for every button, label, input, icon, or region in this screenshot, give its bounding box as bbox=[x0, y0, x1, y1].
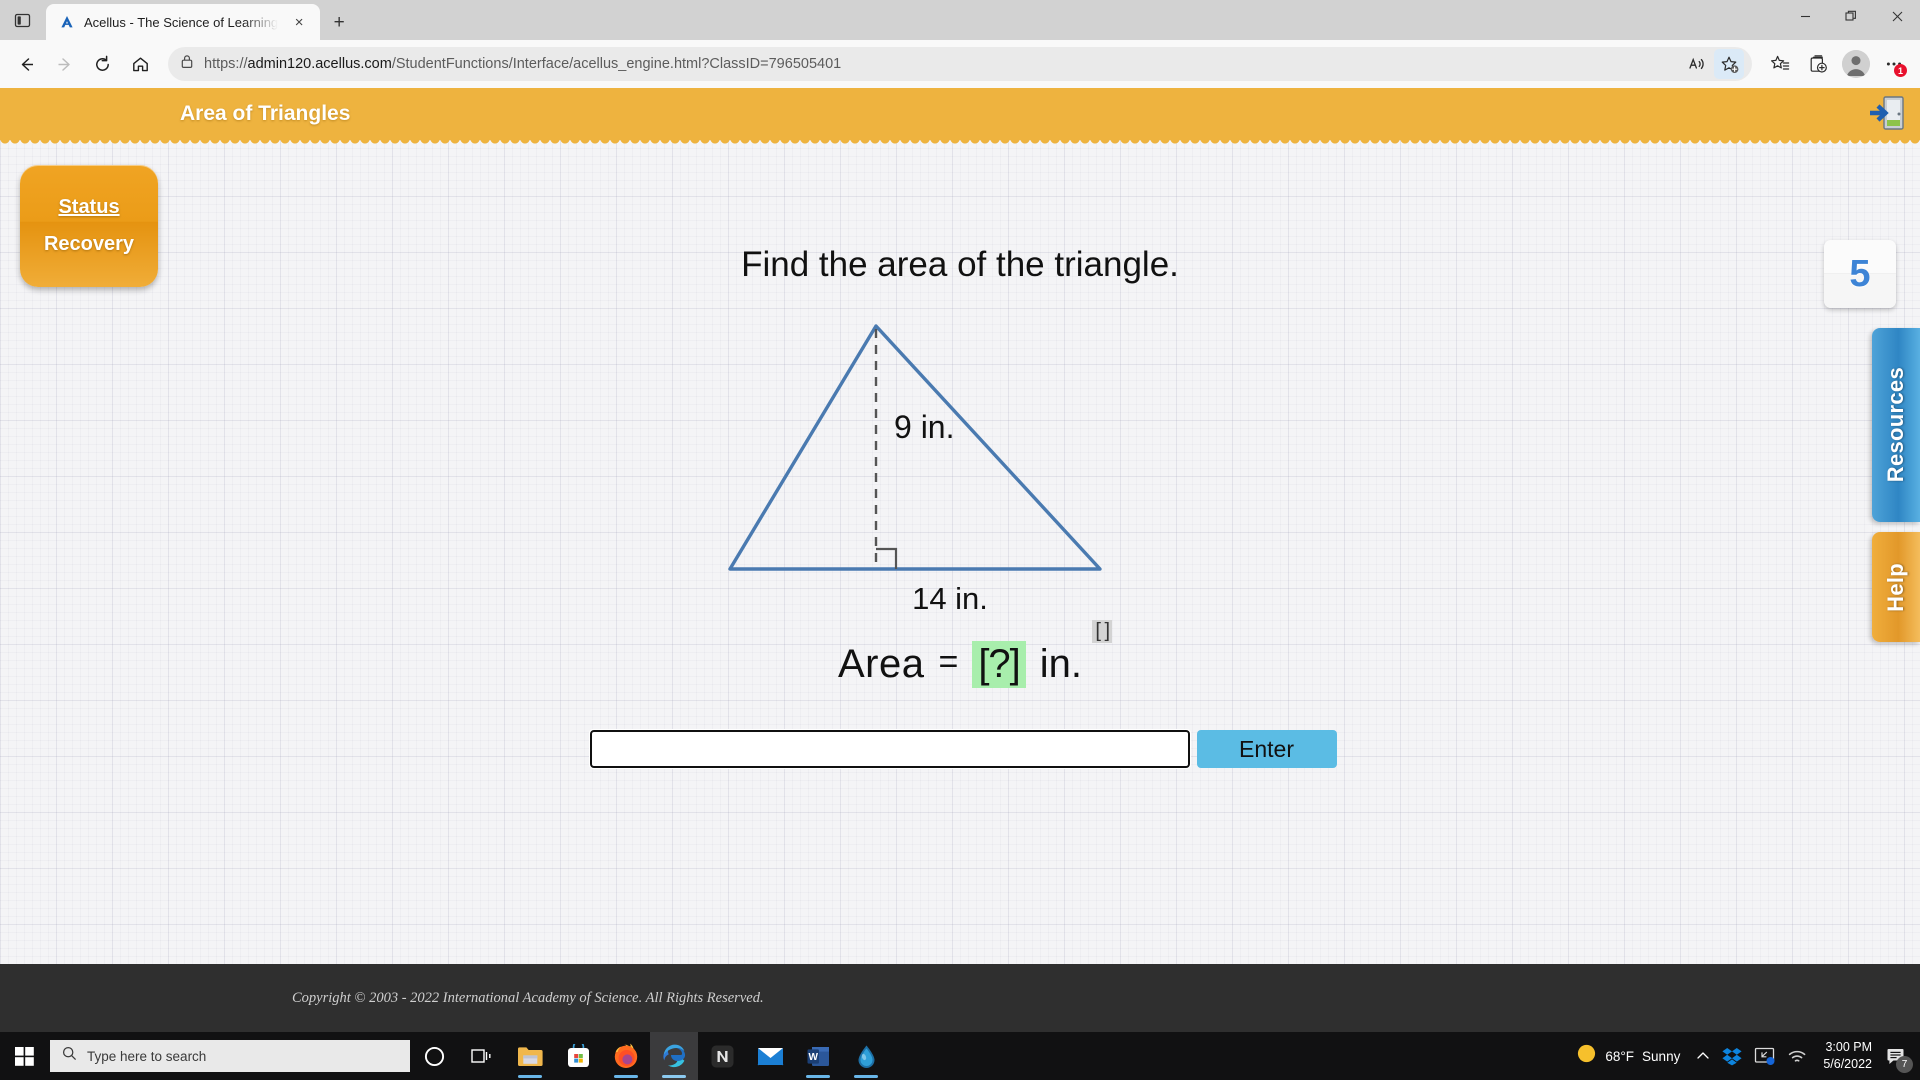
file-explorer-icon[interactable] bbox=[506, 1032, 554, 1080]
equation-unit-text: in. bbox=[1040, 642, 1082, 686]
settings-badge: 1 bbox=[1894, 64, 1907, 77]
copyright-text: Copyright © 2003 - 2022 International Ac… bbox=[292, 990, 764, 1007]
svg-text:W: W bbox=[808, 1051, 818, 1062]
lock-icon bbox=[180, 54, 194, 74]
address-bar-url: https://admin120.acellus.com/StudentFunc… bbox=[204, 56, 841, 72]
problem-counter: 5 bbox=[1824, 240, 1896, 308]
taskbar-search-box[interactable]: Type here to search bbox=[50, 1040, 410, 1072]
notifications-icon[interactable]: 7 bbox=[1882, 1032, 1916, 1080]
clock-date: 5/6/2022 bbox=[1823, 1056, 1872, 1073]
back-button[interactable] bbox=[8, 46, 44, 82]
taskbar-search-placeholder: Type here to search bbox=[87, 1049, 206, 1064]
weather-description: Sunny bbox=[1642, 1049, 1680, 1064]
sun-icon bbox=[1576, 1043, 1597, 1069]
equation-equals: = bbox=[938, 643, 958, 682]
forward-button[interactable] bbox=[46, 46, 82, 82]
add-to-favorites-icon[interactable] bbox=[1714, 49, 1744, 79]
firefox-icon[interactable] bbox=[602, 1032, 650, 1080]
system-tray: 68°F Sunny 3:00 PM 5/6/2022 7 bbox=[1560, 1032, 1920, 1080]
weather-widget[interactable]: 68°F Sunny bbox=[1560, 1043, 1690, 1069]
water-drop-app-icon[interactable] bbox=[842, 1032, 890, 1080]
browser-tab[interactable]: Acellus - The Science of Learning × bbox=[46, 4, 320, 40]
torn-edge-decoration bbox=[0, 139, 1920, 147]
read-aloud-icon[interactable] bbox=[1682, 49, 1712, 79]
collections-icon[interactable] bbox=[1800, 46, 1836, 82]
task-view-icon[interactable] bbox=[458, 1032, 506, 1080]
search-icon bbox=[62, 1046, 77, 1066]
taskbar-clock[interactable]: 3:00 PM 5/6/2022 bbox=[1813, 1032, 1882, 1080]
worksheet-canvas: Find the area of the triangle. 9 in. 14 … bbox=[0, 140, 1920, 964]
exit-door-icon[interactable] bbox=[1868, 94, 1906, 137]
app-header: Area of Triangles bbox=[0, 88, 1920, 140]
page-footer: Copyright © 2003 - 2022 International Ac… bbox=[0, 964, 1920, 1032]
help-tab[interactable]: Help bbox=[1872, 532, 1920, 642]
browser-window: Acellus - The Science of Learning × + bbox=[0, 0, 1920, 1080]
minimize-button[interactable] bbox=[1782, 0, 1828, 32]
avatar bbox=[1842, 50, 1870, 78]
microsoft-store-icon[interactable] bbox=[554, 1032, 602, 1080]
more-settings-icon[interactable]: 1 bbox=[1876, 46, 1912, 82]
window-controls bbox=[1782, 0, 1920, 40]
close-window-button[interactable] bbox=[1874, 0, 1920, 32]
weather-temperature: 68°F bbox=[1605, 1049, 1634, 1064]
microsoft-word-icon[interactable]: W bbox=[794, 1032, 842, 1080]
triangle-height-label: 9 in. bbox=[894, 409, 954, 445]
notability-icon[interactable] bbox=[698, 1032, 746, 1080]
windows-taskbar: Type here to search W bbox=[0, 1032, 1920, 1080]
status-label: Status bbox=[58, 196, 119, 219]
enter-button[interactable]: Enter bbox=[1197, 730, 1337, 768]
resources-tab[interactable]: Resources bbox=[1872, 328, 1920, 522]
display-icon[interactable] bbox=[1748, 1032, 1781, 1080]
browser-titlebar: Acellus - The Science of Learning × + bbox=[0, 0, 1920, 40]
problem-content: Find the area of the triangle. 9 in. 14 … bbox=[0, 140, 1920, 768]
answer-row: Enter bbox=[0, 730, 1920, 768]
new-tab-button[interactable]: + bbox=[326, 10, 352, 36]
acellus-logo-icon bbox=[58, 13, 76, 31]
browser-tab-title: Acellus - The Science of Learning bbox=[84, 15, 278, 30]
triangle-figure: 9 in. 14 in. bbox=[680, 299, 1240, 617]
tab-actions-icon[interactable] bbox=[0, 0, 44, 40]
address-bar[interactable]: https://admin120.acellus.com/StudentFunc… bbox=[168, 47, 1752, 81]
restore-button[interactable] bbox=[1828, 0, 1874, 32]
mail-icon[interactable] bbox=[746, 1032, 794, 1080]
show-hidden-icons-icon[interactable] bbox=[1690, 1032, 1716, 1080]
browser-toolbar: https://admin120.acellus.com/StudentFunc… bbox=[0, 40, 1920, 88]
refresh-button[interactable] bbox=[84, 46, 120, 82]
favorites-icon[interactable] bbox=[1762, 46, 1798, 82]
answer-input[interactable] bbox=[590, 730, 1190, 768]
notifications-badge: 7 bbox=[1896, 1056, 1913, 1073]
page-title: Area of Triangles bbox=[180, 102, 350, 126]
resources-tab-label: Resources bbox=[1883, 367, 1909, 482]
home-button[interactable] bbox=[122, 46, 158, 82]
wifi-icon[interactable] bbox=[1781, 1032, 1813, 1080]
triangle-diagram-svg: 9 in. bbox=[680, 299, 1240, 574]
cortana-icon[interactable] bbox=[410, 1032, 458, 1080]
status-recovery-button[interactable]: Status Recovery bbox=[20, 165, 158, 287]
equation-answer-blank: [?] bbox=[972, 641, 1025, 688]
help-tab-label: Help bbox=[1883, 563, 1909, 612]
triangle-base-label: 14 in. bbox=[670, 581, 1230, 617]
equation-unit: in.[ ] bbox=[1040, 642, 1082, 687]
equation-exponent-blank: [ ] bbox=[1092, 620, 1112, 643]
close-tab-icon[interactable]: × bbox=[286, 9, 312, 35]
problem-counter-value: 5 bbox=[1849, 253, 1870, 296]
microsoft-edge-icon[interactable] bbox=[650, 1032, 698, 1080]
windows-start-icon[interactable] bbox=[0, 1032, 48, 1080]
problem-prompt: Find the area of the triangle. bbox=[0, 245, 1920, 285]
area-equation: Area = [?] in.[ ] bbox=[0, 641, 1920, 688]
equation-word: Area bbox=[838, 642, 925, 687]
recovery-label: Recovery bbox=[44, 233, 134, 256]
clock-time: 3:00 PM bbox=[1825, 1039, 1872, 1056]
profile-avatar-icon[interactable] bbox=[1838, 46, 1874, 82]
dropbox-icon[interactable] bbox=[1716, 1032, 1748, 1080]
page-viewport: Area of Triangles Find the area of the t… bbox=[0, 88, 1920, 1032]
